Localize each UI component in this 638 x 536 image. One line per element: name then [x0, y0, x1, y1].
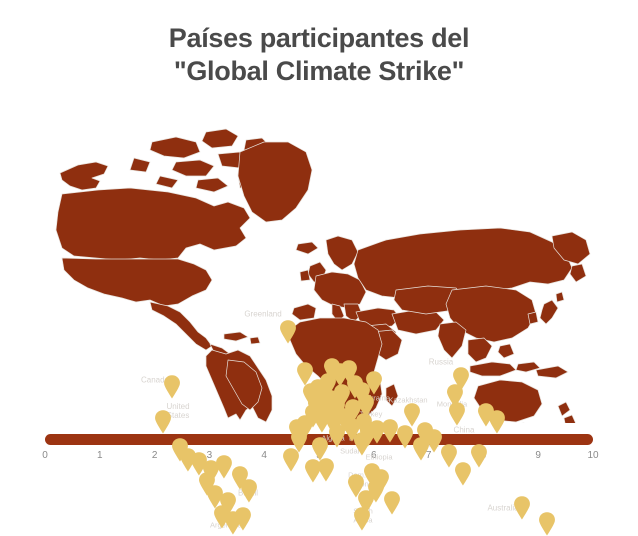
pin-canada[interactable] [163, 374, 181, 399]
pin-china[interactable] [448, 401, 466, 426]
pin-uruguay[interactable] [234, 506, 252, 531]
pin-senegal[interactable] [282, 447, 300, 472]
scale-tick-9: 9 [535, 450, 541, 461]
pin-kazakhstan[interactable] [403, 402, 421, 427]
pin-ghana[interactable] [304, 458, 322, 483]
pin-philippines[interactable] [470, 443, 488, 468]
pin-madagascar[interactable] [383, 490, 401, 515]
pin-south-africa[interactable] [353, 506, 371, 531]
map-infographic: Países participantes del "Global Climate… [0, 0, 638, 495]
pin-brazil-s[interactable] [240, 478, 258, 503]
title-line-2: "Global Climate Strike" [0, 55, 638, 88]
scale-tick-6: 6 [371, 450, 377, 461]
pin-greenland-e[interactable] [279, 319, 297, 344]
world-map[interactable]: GreenlandCanadaUnitedStatesBrazilArgenti… [0, 118, 638, 423]
pin-australia[interactable] [513, 495, 531, 520]
pin-russia-w[interactable] [365, 370, 383, 395]
scale-tick-1: 1 [97, 450, 103, 461]
scale-tick-2: 2 [152, 450, 158, 461]
page-title: Países participantes del "Global Climate… [0, 22, 638, 88]
pin-united-states[interactable] [154, 409, 172, 434]
scale-tick-4: 4 [261, 450, 267, 461]
pin-new-zealand[interactable] [538, 511, 556, 536]
title-line-1: Países participantes del [0, 22, 638, 55]
scale-tick-10: 10 [587, 450, 598, 461]
pin-japan[interactable] [488, 409, 506, 434]
pin-tunisia[interactable] [328, 423, 346, 448]
scale-tick-0: 0 [42, 450, 48, 461]
